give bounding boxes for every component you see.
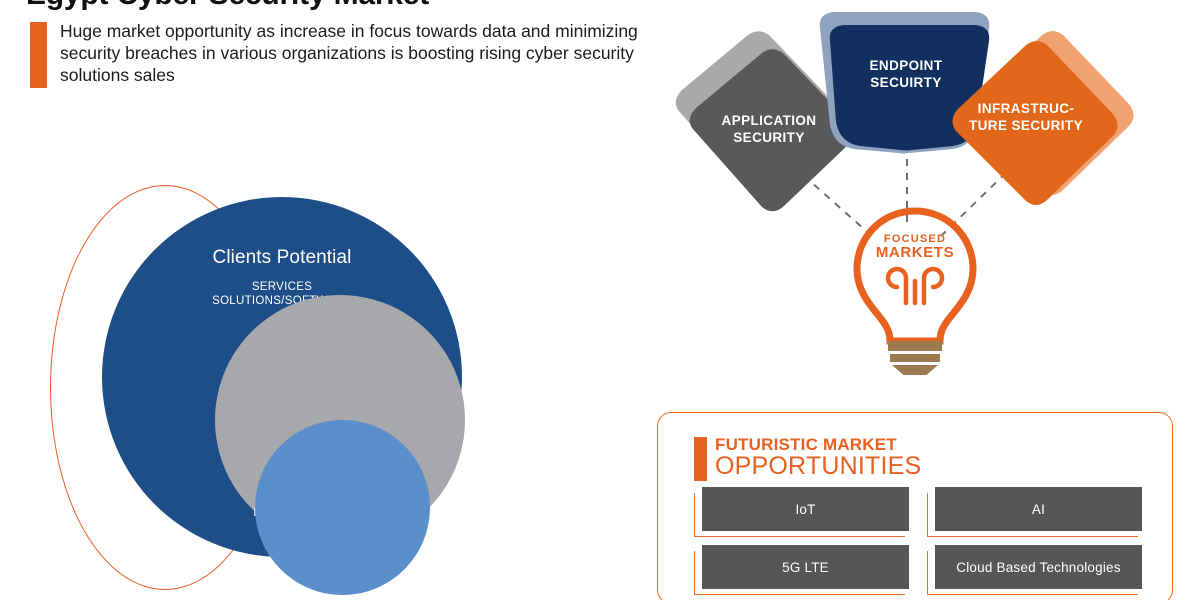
clients-potential-title: Clients Potential bbox=[102, 247, 462, 269]
opportunity-tile-ai[interactable]: AI bbox=[935, 487, 1142, 531]
bulb-base-icon bbox=[888, 341, 942, 375]
bulb-filament-icon bbox=[888, 269, 942, 303]
focused-markets-lightbulb[interactable] bbox=[840, 205, 990, 375]
nested-circles-diagram: Clients Potential SERVICES SOLUTIONS/SOF… bbox=[40, 175, 460, 600]
opportunity-tile-wrap: IoT bbox=[694, 487, 909, 535]
futuristic-opportunities-panel: FUTURISTIC MARKET OPPORTUNITIES IoT AI 5… bbox=[657, 412, 1173, 600]
opportunity-tile-wrap: 5G LTE bbox=[694, 545, 909, 593]
opportunity-tile-wrap: Cloud Based Technologies bbox=[927, 545, 1142, 593]
infrastructure-security-label: INFRASTRUC-TURE SECURITY bbox=[966, 100, 1086, 134]
opportunities-accent-bar bbox=[694, 437, 707, 481]
opportunity-tile-wrap: AI bbox=[927, 487, 1142, 535]
page-title: Egypt Cyber Security Market bbox=[26, 0, 429, 12]
header-accent-bar bbox=[30, 22, 47, 88]
focused-markets-label: FOCUSED MARKETS bbox=[855, 233, 975, 261]
circle-clients-potential-label: Clients Potential SERVICES SOLUTIONS/SOF… bbox=[102, 247, 462, 308]
opportunity-tile-5g-lte[interactable]: 5G LTE bbox=[702, 545, 909, 589]
endpoint-security-label: ENDPOINT SECUIRTY bbox=[841, 57, 971, 91]
clients-potential-items: SERVICES SOLUTIONS/SOFTWARE bbox=[102, 280, 462, 308]
header-subtitle: Huge market opportunity as increase in f… bbox=[60, 20, 640, 86]
circle-hot-bets: Hot Bets 5G LTE, AI, Cloud Based Technol… bbox=[255, 420, 430, 595]
bulb-line-2: MARKETS bbox=[855, 244, 975, 261]
opportunity-tile-iot[interactable]: IoT bbox=[702, 487, 909, 531]
opportunity-tile-cloud-based-technologies[interactable]: Cloud Based Technologies bbox=[935, 545, 1142, 589]
opportunities-title-line2: OPPORTUNITIES bbox=[715, 452, 921, 481]
opportunity-tile-grid: IoT AI 5G LTE Cloud Based Technologies bbox=[694, 487, 1142, 595]
bulb-glass-icon bbox=[857, 211, 973, 341]
infographic-canvas: Egypt Cyber Security Market Huge market … bbox=[0, 0, 1200, 600]
application-security-label: APPLICATION SECURITY bbox=[704, 112, 834, 146]
